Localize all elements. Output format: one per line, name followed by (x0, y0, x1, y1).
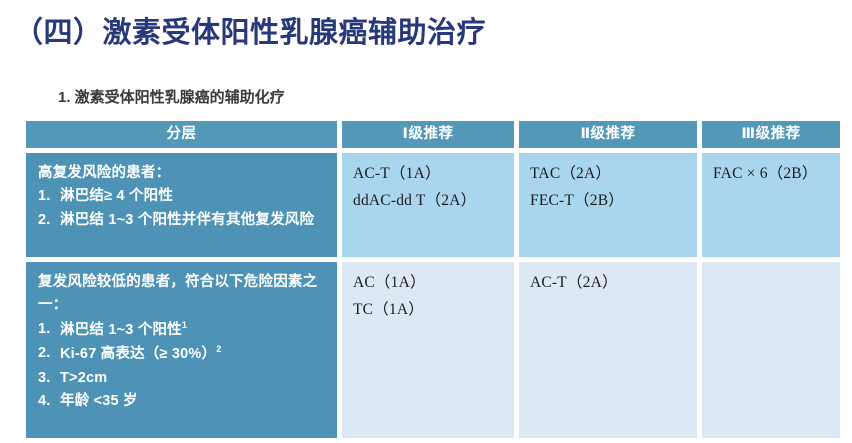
list-item: 4. 年龄 <35 岁 (38, 390, 327, 413)
table-row: 复发风险较低的患者，符合以下危险因素之一： 1. 淋巴结 1~3 个阳性1 2.… (26, 262, 840, 438)
list-item-label: Ki-67 高表达（≥ 30%） (60, 346, 216, 362)
stratification-list: 1. 淋巴结 1~3 个阳性1 2. Ki-67 高表达（≥ 30%）2 3. … (38, 318, 327, 414)
list-item-label: 淋巴结 1~3 个阳性并伴有其他复发风险 (60, 212, 314, 228)
list-item-number: 2. (38, 209, 51, 232)
level-2-cell: AC-T（2A） (519, 262, 697, 438)
level-1-cell: AC-T（1A） ddAC-dd T（2A） (342, 153, 514, 257)
stratification-lead: 复发风险较低的患者，符合以下危险因素之一： (38, 271, 327, 318)
table-row: 高复发风险的患者： 1. 淋巴结≥ 4 个阳性 2. 淋巴结 1~3 个阳性并伴… (26, 153, 840, 257)
list-item: 2. 淋巴结 1~3 个阳性并伴有其他复发风险 (38, 209, 327, 232)
stratification-list: 1. 淋巴结≥ 4 个阳性 2. 淋巴结 1~3 个阳性并伴有其他复发风险 (38, 185, 327, 232)
list-item-number: 3. (38, 367, 51, 390)
list-item-number: 1. (38, 185, 51, 208)
stratification-cell: 复发风险较低的患者，符合以下危险因素之一： 1. 淋巴结 1~3 个阳性1 2.… (26, 262, 337, 438)
stratification-lead: 高复发风险的患者： (38, 162, 327, 185)
recommendation-line: AC-T（1A） (353, 161, 514, 188)
recommendation-line: ddAC-dd T（2A） (353, 188, 514, 215)
recommendation-line: AC-T（2A） (530, 270, 697, 297)
level-2-cell: TAC（2A） FEC-T（2B） (519, 153, 697, 257)
list-item-label: 年龄 <35 岁 (60, 393, 138, 409)
recommendation-table: 分层 Ⅰ级推荐 Ⅱ级推荐 Ⅲ级推荐 高复发风险的患者： 1. 淋巴结≥ 4 个阳… (26, 121, 840, 443)
page-title: （四）激素受体阳性乳腺癌辅助治疗 (14, 9, 486, 51)
section-subtitle: 1. 激素受体阳性乳腺癌的辅助化疗 (58, 86, 285, 107)
list-item: 1. 淋巴结≥ 4 个阳性 (38, 185, 327, 208)
list-item: 2. Ki-67 高表达（≥ 30%）2 (38, 342, 327, 366)
recommendation-line: AC（1A） (353, 270, 514, 297)
column-header-level-3: Ⅲ级推荐 (702, 121, 840, 148)
list-item-label: 淋巴结 1~3 个阳性 (60, 322, 182, 338)
footnote-marker: 2 (216, 344, 221, 354)
list-item: 1. 淋巴结 1~3 个阳性1 (38, 318, 327, 342)
level-1-cell: AC（1A） TC（1A） (342, 262, 514, 438)
footnote-marker: 1 (182, 320, 187, 330)
level-3-cell-empty (702, 262, 840, 438)
column-header-level-2: Ⅱ级推荐 (519, 121, 697, 148)
list-item-label: T>2cm (60, 370, 107, 386)
recommendation-line: TAC（2A） (530, 161, 697, 188)
level-3-cell: FAC × 6（2B） (702, 153, 840, 257)
recommendation-line: TC（1A） (353, 297, 514, 324)
list-item-label: 淋巴结≥ 4 个阳性 (60, 188, 173, 204)
recommendation-line: FAC × 6（2B） (713, 161, 840, 188)
table-header-row: 分层 Ⅰ级推荐 Ⅱ级推荐 Ⅲ级推荐 (26, 121, 840, 148)
stratification-cell: 高复发风险的患者： 1. 淋巴结≥ 4 个阳性 2. 淋巴结 1~3 个阳性并伴… (26, 153, 337, 257)
column-header-stratification: 分层 (26, 121, 337, 148)
column-header-level-1: Ⅰ级推荐 (342, 121, 514, 148)
list-item: 3. T>2cm (38, 367, 327, 390)
list-item-number: 1. (38, 318, 51, 341)
recommendation-line: FEC-T（2B） (530, 188, 697, 215)
list-item-number: 2. (38, 342, 51, 365)
list-item-number: 4. (38, 390, 51, 413)
